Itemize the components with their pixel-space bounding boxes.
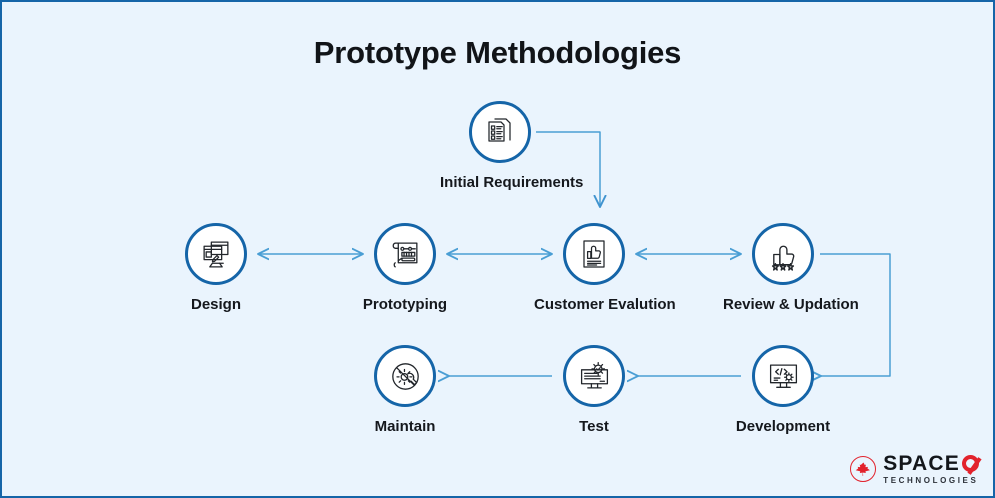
node-development[interactable]: Development — [723, 345, 843, 435]
thumbs-up-stars-icon — [767, 238, 800, 271]
monitor-gear-check-icon — [578, 360, 611, 393]
node-review-updation[interactable]: Review & Updation — [723, 223, 843, 313]
spaceo-logo[interactable]: SPACE TECHNOLOGIES — [850, 453, 979, 485]
node-prototyping[interactable]: Prototyping — [345, 223, 465, 313]
node-maintain[interactable]: Maintain — [345, 345, 465, 435]
logo-brand-row: SPACE — [883, 453, 979, 474]
gear-wrench-blocked-icon — [389, 360, 422, 393]
diagram-canvas: Prototype Methodologies — [0, 0, 995, 498]
node-circle — [469, 101, 531, 163]
node-circle — [752, 345, 814, 407]
logo-wordmark: SPACE TECHNOLOGIES — [883, 453, 979, 485]
node-label: Design — [156, 296, 276, 313]
maple-leaf-icon — [850, 456, 876, 482]
node-label: Initial Requirements — [440, 174, 560, 191]
node-label: Development — [723, 418, 843, 435]
node-label: Customer Evalution — [534, 296, 654, 313]
node-test[interactable]: Test — [534, 345, 654, 435]
node-label: Test — [534, 418, 654, 435]
code-gear-monitor-icon — [767, 360, 800, 393]
logo-o-slash-icon — [962, 455, 979, 472]
node-circle — [374, 345, 436, 407]
checklist-document-icon — [484, 116, 516, 148]
node-customer-evalution[interactable]: Customer Evalution — [534, 223, 654, 313]
node-initial-requirements[interactable]: Initial Requirements — [440, 101, 560, 191]
node-circle — [563, 345, 625, 407]
node-circle — [752, 223, 814, 285]
node-circle — [563, 223, 625, 285]
node-label: Review & Updation — [723, 296, 843, 313]
logo-subtitle: TECHNOLOGIES — [883, 477, 979, 485]
connector-layer — [2, 2, 995, 498]
thumbs-up-document-icon — [578, 238, 610, 270]
node-label: Maintain — [345, 418, 465, 435]
node-label: Prototyping — [345, 296, 465, 313]
monitor-design-icon — [200, 238, 233, 271]
node-circle — [185, 223, 247, 285]
node-circle — [374, 223, 436, 285]
blueprint-wireframe-icon — [389, 238, 422, 271]
logo-brand-text: SPACE — [883, 453, 960, 474]
node-design[interactable]: Design — [156, 223, 276, 313]
